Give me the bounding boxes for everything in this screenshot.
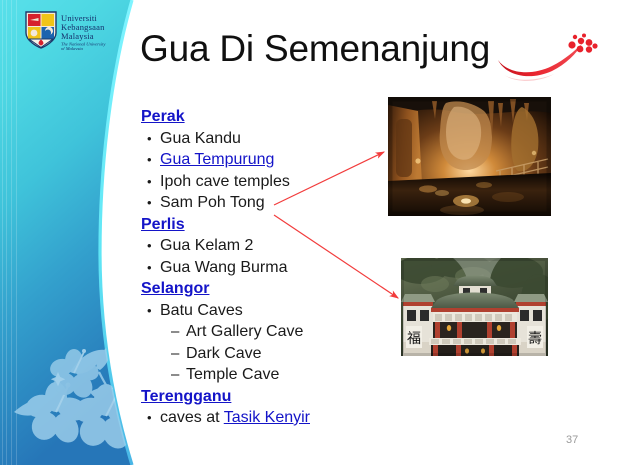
temple-middle-storey [433, 322, 517, 338]
swoosh-tail [498, 44, 582, 76]
list-item-text: Batu Caves [160, 300, 243, 322]
list-item-label: Art Gallery Cave [186, 323, 303, 340]
list-item: •Gua Tempurung [141, 149, 391, 171]
section-heading: Selangor [141, 278, 391, 300]
list-item-text: Art Gallery Cave [186, 321, 303, 343]
hyperlink[interactable]: Gua Tempurung [160, 151, 274, 168]
list-item-text-prefix: caves at [160, 409, 224, 426]
list-item: •Batu Caves [141, 300, 391, 322]
list-item: •Gua Wang Burma [141, 257, 391, 279]
list-item-label: Ipoh cave temples [160, 173, 290, 190]
list-item: •caves at Tasik Kenyir [141, 407, 391, 429]
hyperlink[interactable]: Tasik Kenyir [224, 409, 310, 426]
list-item: •Gua Kandu [141, 128, 391, 150]
svg-text:福: 福 [407, 331, 421, 347]
list-item: •Sam Poh Tong [141, 192, 391, 214]
chinese-cave-temple-photo: 福 壽 [401, 258, 548, 356]
logo-line-5: of Malaysia [61, 46, 84, 50]
list-item-text: Gua Kelam 2 [160, 235, 253, 257]
section-heading: Terengganu [141, 386, 391, 408]
list-item-text: Sam Poh Tong [160, 192, 265, 214]
page-title: Gua Di Semenanjung [140, 28, 490, 70]
page-number: 37 [566, 434, 578, 446]
sub-list-item: –Temple Cave [141, 364, 391, 386]
dash-marker: – [171, 343, 186, 365]
list-item-text: Gua Tempurung [160, 149, 274, 171]
bullet-marker: • [141, 300, 160, 322]
list-item-label: Gua Kelam 2 [160, 237, 253, 254]
cave-interior-photo [388, 97, 551, 216]
list-item-text: Dark Cave [186, 343, 262, 365]
list-item-text: Gua Wang Burma [160, 257, 287, 279]
slide: Universiti Kebangsaan Malaysia The Natio… [0, 0, 620, 465]
list-item-label: Dark Cave [186, 345, 262, 362]
bullet-marker: • [141, 171, 160, 193]
list-item-label: Batu Caves [160, 302, 243, 319]
list-item-label: Gua Wang Burma [160, 259, 287, 276]
list-item-label: Gua Kandu [160, 130, 241, 147]
bullet-marker: • [141, 128, 160, 150]
list-item: •Ipoh cave temples [141, 171, 391, 193]
sub-list-item: –Dark Cave [141, 343, 391, 365]
list-item-text: Gua Kandu [160, 128, 241, 150]
logo-wordmark: Universiti Kebangsaan Malaysia The Natio… [61, 13, 106, 50]
red-swoosh-decoration [494, 28, 606, 89]
dash-marker: – [171, 321, 186, 343]
section-heading: Perlis [141, 214, 391, 236]
bullet-marker: • [141, 235, 160, 257]
crest-shield [26, 12, 56, 48]
logo-line-3: Malaysia [61, 31, 94, 41]
list-item-text: caves at Tasik Kenyir [160, 407, 310, 429]
list-item-label: Sam Poh Tong [160, 194, 265, 211]
bullet-marker: • [141, 149, 160, 171]
university-logo: Universiti Kebangsaan Malaysia The Natio… [14, 8, 118, 50]
bullet-marker: • [141, 407, 160, 429]
list-item-label: Temple Cave [186, 366, 279, 383]
decorative-side-band [0, 0, 160, 465]
list-item: •Gua Kelam 2 [141, 235, 391, 257]
content-list: Perak•Gua Kandu•Gua Tempurung•Ipoh cave … [141, 106, 391, 429]
list-item-text: Temple Cave [186, 364, 279, 386]
dash-marker: – [171, 364, 186, 386]
sub-list-item: –Art Gallery Cave [141, 321, 391, 343]
list-item-text: Ipoh cave temples [160, 171, 290, 193]
bullet-marker: • [141, 192, 160, 214]
svg-text:壽: 壽 [528, 331, 542, 347]
bullet-marker: • [141, 257, 160, 279]
section-heading: Perak [141, 106, 391, 128]
swoosh-berries [568, 34, 597, 53]
